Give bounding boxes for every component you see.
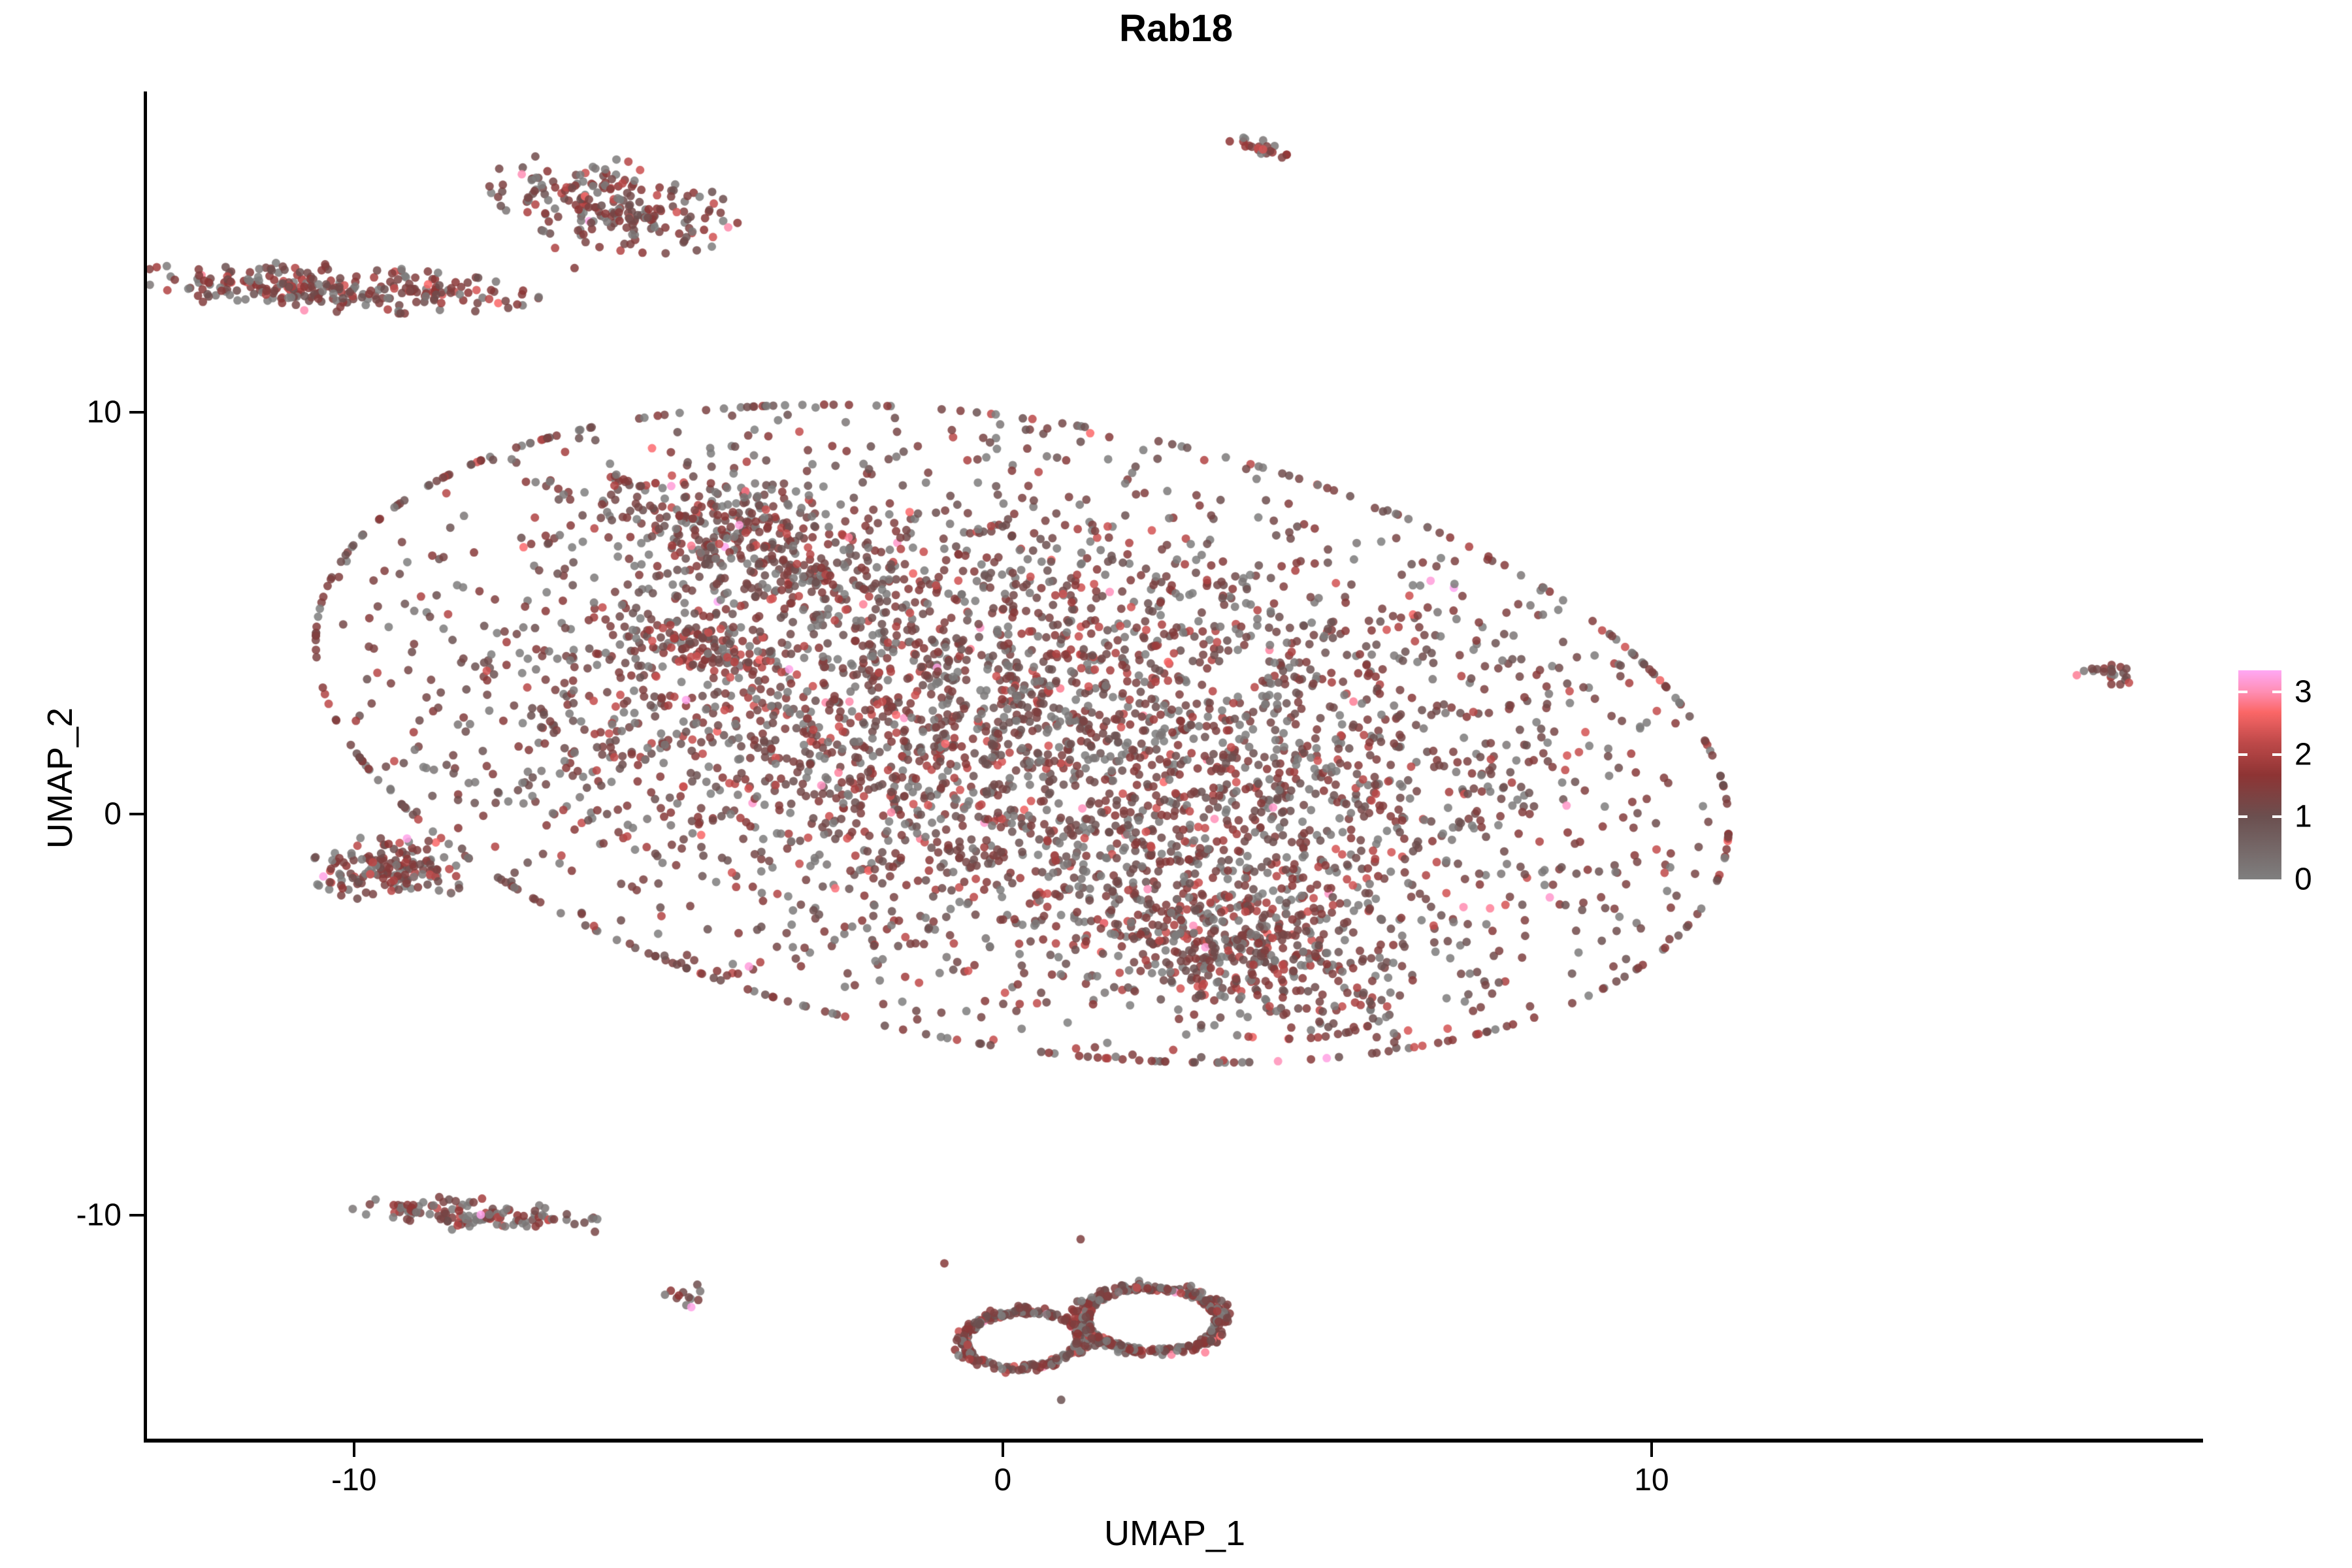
y-tick-label: 0 xyxy=(104,796,122,832)
y-tick-mark xyxy=(129,813,144,815)
colorbar-tick-label: 0 xyxy=(2295,862,2312,898)
x-tick-mark xyxy=(1002,1443,1004,1457)
scatter-points-layer xyxy=(146,91,2203,1440)
colorbar-tick-mark xyxy=(2238,691,2247,693)
page-title: Rab18 xyxy=(0,7,2352,50)
colorbar-tick-label: 1 xyxy=(2295,799,2312,835)
x-tick-label: -10 xyxy=(331,1462,376,1498)
colorbar-tick-mark xyxy=(2272,753,2281,756)
legend-colorbar: 3210 xyxy=(2238,670,2343,886)
colorbar-tick-label: 3 xyxy=(2295,674,2312,710)
y-axis-line xyxy=(144,91,147,1443)
x-axis-title: UMAP_1 xyxy=(146,1513,2203,1554)
x-axis-line xyxy=(144,1439,2203,1443)
y-tick-label: -10 xyxy=(76,1198,122,1233)
y-tick-mark xyxy=(129,411,144,414)
colorbar-tick-mark xyxy=(2272,815,2281,818)
y-tick-label: 10 xyxy=(87,395,122,431)
y-tick-mark xyxy=(129,1214,144,1217)
x-tick-mark xyxy=(1650,1443,1653,1457)
x-tick-label: 0 xyxy=(994,1462,1011,1498)
colorbar-tick-mark xyxy=(2272,691,2281,693)
colorbar-tick-mark xyxy=(2238,753,2247,756)
plot-panel xyxy=(146,91,2203,1440)
x-tick-label: 10 xyxy=(1634,1462,1669,1498)
x-tick-mark xyxy=(353,1443,355,1457)
y-axis-title: UMAP_2 xyxy=(40,104,80,1452)
colorbar-gradient xyxy=(2238,670,2281,879)
colorbar-tick-label: 2 xyxy=(2295,736,2312,772)
colorbar-tick-mark xyxy=(2238,815,2247,818)
figure-root: Rab18 -10010 -10010 UMAP_1 UMAP_2 3210 xyxy=(0,0,2352,1568)
